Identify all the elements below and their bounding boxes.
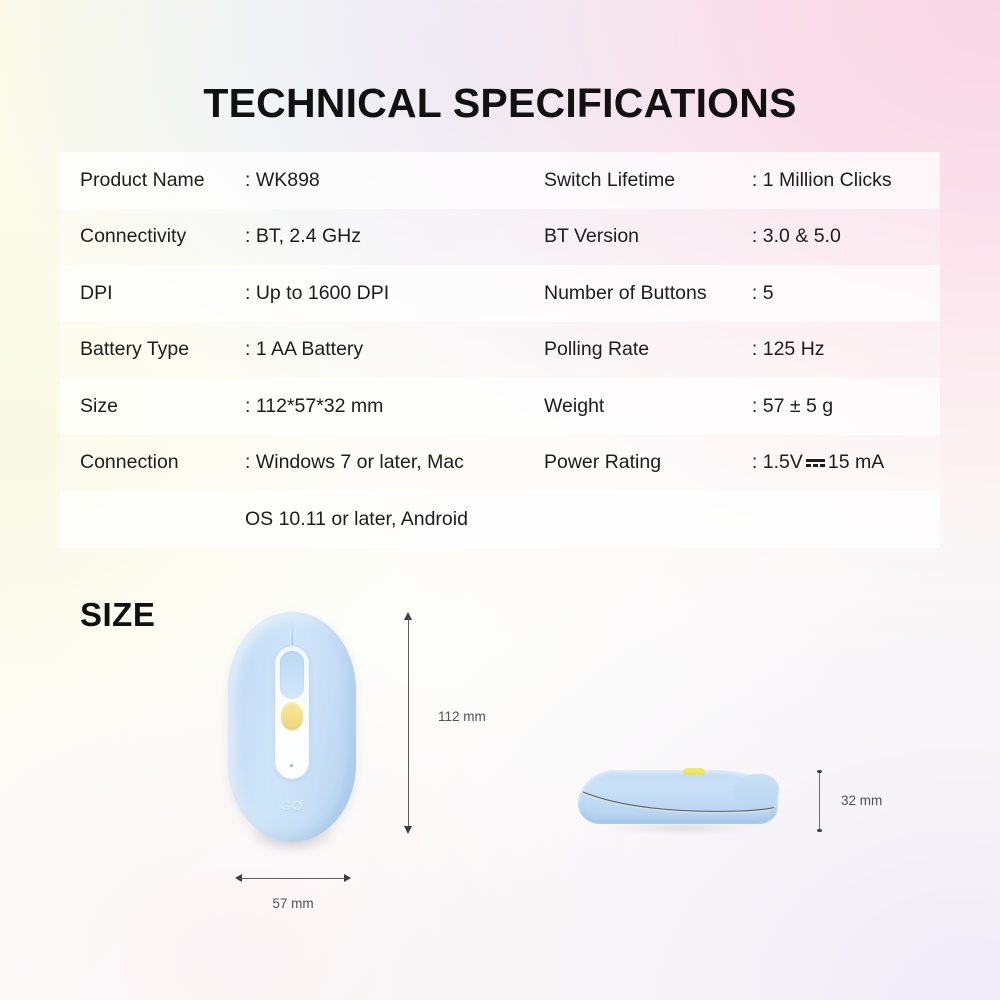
dimension-label-32mm: 32 mm bbox=[841, 793, 882, 808]
spec-cell-left: Size : 112*57*32 mm bbox=[60, 378, 530, 435]
mouse-side-view-illustration bbox=[578, 762, 783, 838]
mouse-top-view-illustration: GO bbox=[228, 612, 356, 844]
spec-label: Battery Type bbox=[60, 338, 245, 361]
spec-cell-left: Product Name : WK898 bbox=[60, 152, 530, 209]
spec-cell-left: Battery Type : 1 AA Battery bbox=[60, 322, 530, 379]
dc-power-symbol-icon bbox=[806, 456, 825, 469]
spec-label: Power Rating bbox=[530, 451, 752, 474]
spec-cell-right: Weight : 57 ± 5 g bbox=[530, 378, 940, 435]
mouse-strip-blue-section bbox=[280, 651, 304, 699]
spec-cell-right: Polling Rate : 125 Hz bbox=[530, 322, 940, 379]
dimension-label-57mm: 57 mm bbox=[235, 896, 351, 911]
spec-label: DPI bbox=[60, 282, 245, 305]
spec-value: : Windows 7 or later, Mac bbox=[245, 451, 515, 474]
table-row: OS 10.11 or later, Android bbox=[60, 491, 940, 548]
spec-value: : BT, 2.4 GHz bbox=[245, 225, 515, 248]
table-row: Product Name : WK898 Switch Lifetime : 1… bbox=[60, 152, 940, 209]
specifications-table: Product Name : WK898 Switch Lifetime : 1… bbox=[60, 152, 940, 548]
dimension-line-32mm bbox=[814, 770, 824, 832]
power-rating-suffix: 15 mA bbox=[828, 451, 884, 473]
mouse-button-seam bbox=[292, 619, 293, 648]
size-section-heading: SIZE bbox=[80, 596, 155, 634]
spec-cell-left: DPI : Up to 1600 DPI bbox=[60, 265, 530, 322]
dimension-cap-bottom bbox=[817, 829, 822, 832]
table-row: Connection : Windows 7 or later, Mac Pow… bbox=[60, 435, 940, 492]
table-row: Battery Type : 1 AA Battery Polling Rate… bbox=[60, 322, 940, 379]
spec-cell-right: Number of Buttons : 5 bbox=[530, 265, 940, 322]
dimension-line bbox=[819, 773, 820, 830]
spec-value: : 1 AA Battery bbox=[245, 338, 515, 361]
arrow-right-icon bbox=[344, 874, 351, 882]
dimension-line-112mm bbox=[400, 612, 416, 834]
mouse-brand-logo: GO bbox=[228, 798, 356, 813]
spec-label: Polling Rate bbox=[530, 338, 752, 361]
power-rating-prefix: : 1.5V bbox=[752, 451, 803, 473]
spec-label: Number of Buttons bbox=[530, 282, 752, 305]
spec-value-power-rating: : 1.5V15 mA bbox=[752, 451, 940, 474]
spec-value: : 1 Million Clicks bbox=[752, 169, 940, 192]
spec-label: Product Name bbox=[60, 169, 245, 192]
table-row: DPI : Up to 1600 DPI Number of Buttons :… bbox=[60, 265, 940, 322]
table-row: Size : 112*57*32 mm Weight : 57 ± 5 g bbox=[60, 378, 940, 435]
spec-label: Connectivity bbox=[60, 225, 245, 248]
spec-cell-right: Power Rating : 1.5V15 mA bbox=[530, 435, 940, 492]
spec-value: : 125 Hz bbox=[752, 338, 940, 361]
spec-value: : 57 ± 5 g bbox=[752, 395, 940, 418]
spec-label: BT Version bbox=[530, 225, 752, 248]
spec-value: : 5 bbox=[752, 282, 940, 305]
arrow-down-icon bbox=[404, 826, 412, 834]
spec-cell-right bbox=[530, 491, 940, 548]
spec-label: Size bbox=[60, 395, 245, 418]
spec-value: : 3.0 & 5.0 bbox=[752, 225, 940, 248]
dimension-line bbox=[408, 617, 409, 829]
spec-label: Connection bbox=[60, 451, 245, 474]
mouse-scroll-wheel bbox=[281, 702, 303, 730]
mouse-side-seam-line bbox=[580, 791, 776, 815]
spec-cell-left: Connectivity : BT, 2.4 GHz bbox=[60, 209, 530, 266]
spec-cell-right: Switch Lifetime : 1 Million Clicks bbox=[530, 152, 940, 209]
spec-cell-left: Connection : Windows 7 or later, Mac bbox=[60, 435, 530, 492]
dimension-line-57mm bbox=[235, 872, 351, 884]
dimension-label-112mm: 112 mm bbox=[438, 709, 486, 724]
spec-cell-right: BT Version : 3.0 & 5.0 bbox=[530, 209, 940, 266]
spec-value-continuation: OS 10.11 or later, Android bbox=[245, 508, 515, 531]
mouse-side-scroll-wheel bbox=[683, 768, 705, 775]
dimension-line bbox=[240, 878, 346, 879]
spec-label: Switch Lifetime bbox=[530, 169, 752, 192]
table-row: Connectivity : BT, 2.4 GHz BT Version : … bbox=[60, 209, 940, 266]
spec-cell-left: OS 10.11 or later, Android bbox=[60, 491, 530, 548]
spec-value: : WK898 bbox=[245, 169, 515, 192]
spec-value: : 112*57*32 mm bbox=[245, 395, 515, 418]
spec-label: Weight bbox=[530, 395, 752, 418]
product-spec-page: TECHNICAL SPECIFICATIONS Product Name : … bbox=[0, 0, 1000, 1000]
spec-value: : Up to 1600 DPI bbox=[245, 282, 515, 305]
page-title: TECHNICAL SPECIFICATIONS bbox=[0, 80, 1000, 127]
